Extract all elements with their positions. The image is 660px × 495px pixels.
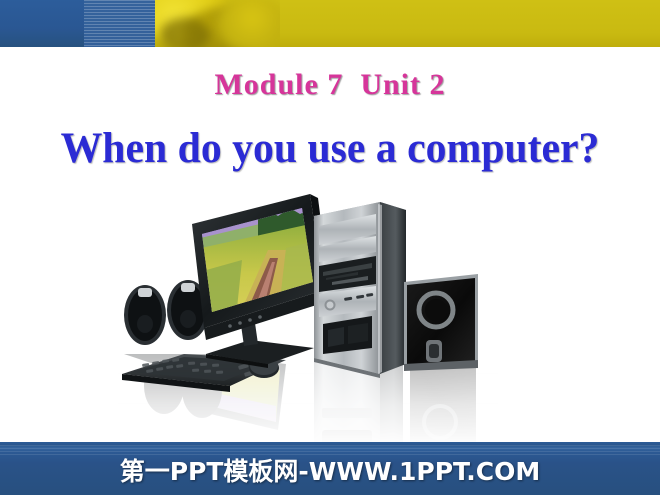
header-blue-block [0, 0, 84, 47]
header-banner [0, 0, 660, 47]
subwoofer-speaker-shape [404, 274, 478, 371]
header-striped-block [84, 0, 155, 47]
footer-watermark-text: 第一PPT模板网-WWW.1PPT.COM [0, 452, 660, 488]
lcd-monitor-shape [192, 194, 330, 368]
page-title: When do you use a computer? [10, 124, 650, 173]
satellite-speaker-left-shape [124, 285, 166, 345]
computer-tower-shape [314, 202, 406, 378]
header-photo-image [155, 0, 280, 47]
module-unit-subtitle: Module 7 Unit 2 [0, 68, 660, 102]
desktop-computer-illustration [118, 178, 498, 446]
